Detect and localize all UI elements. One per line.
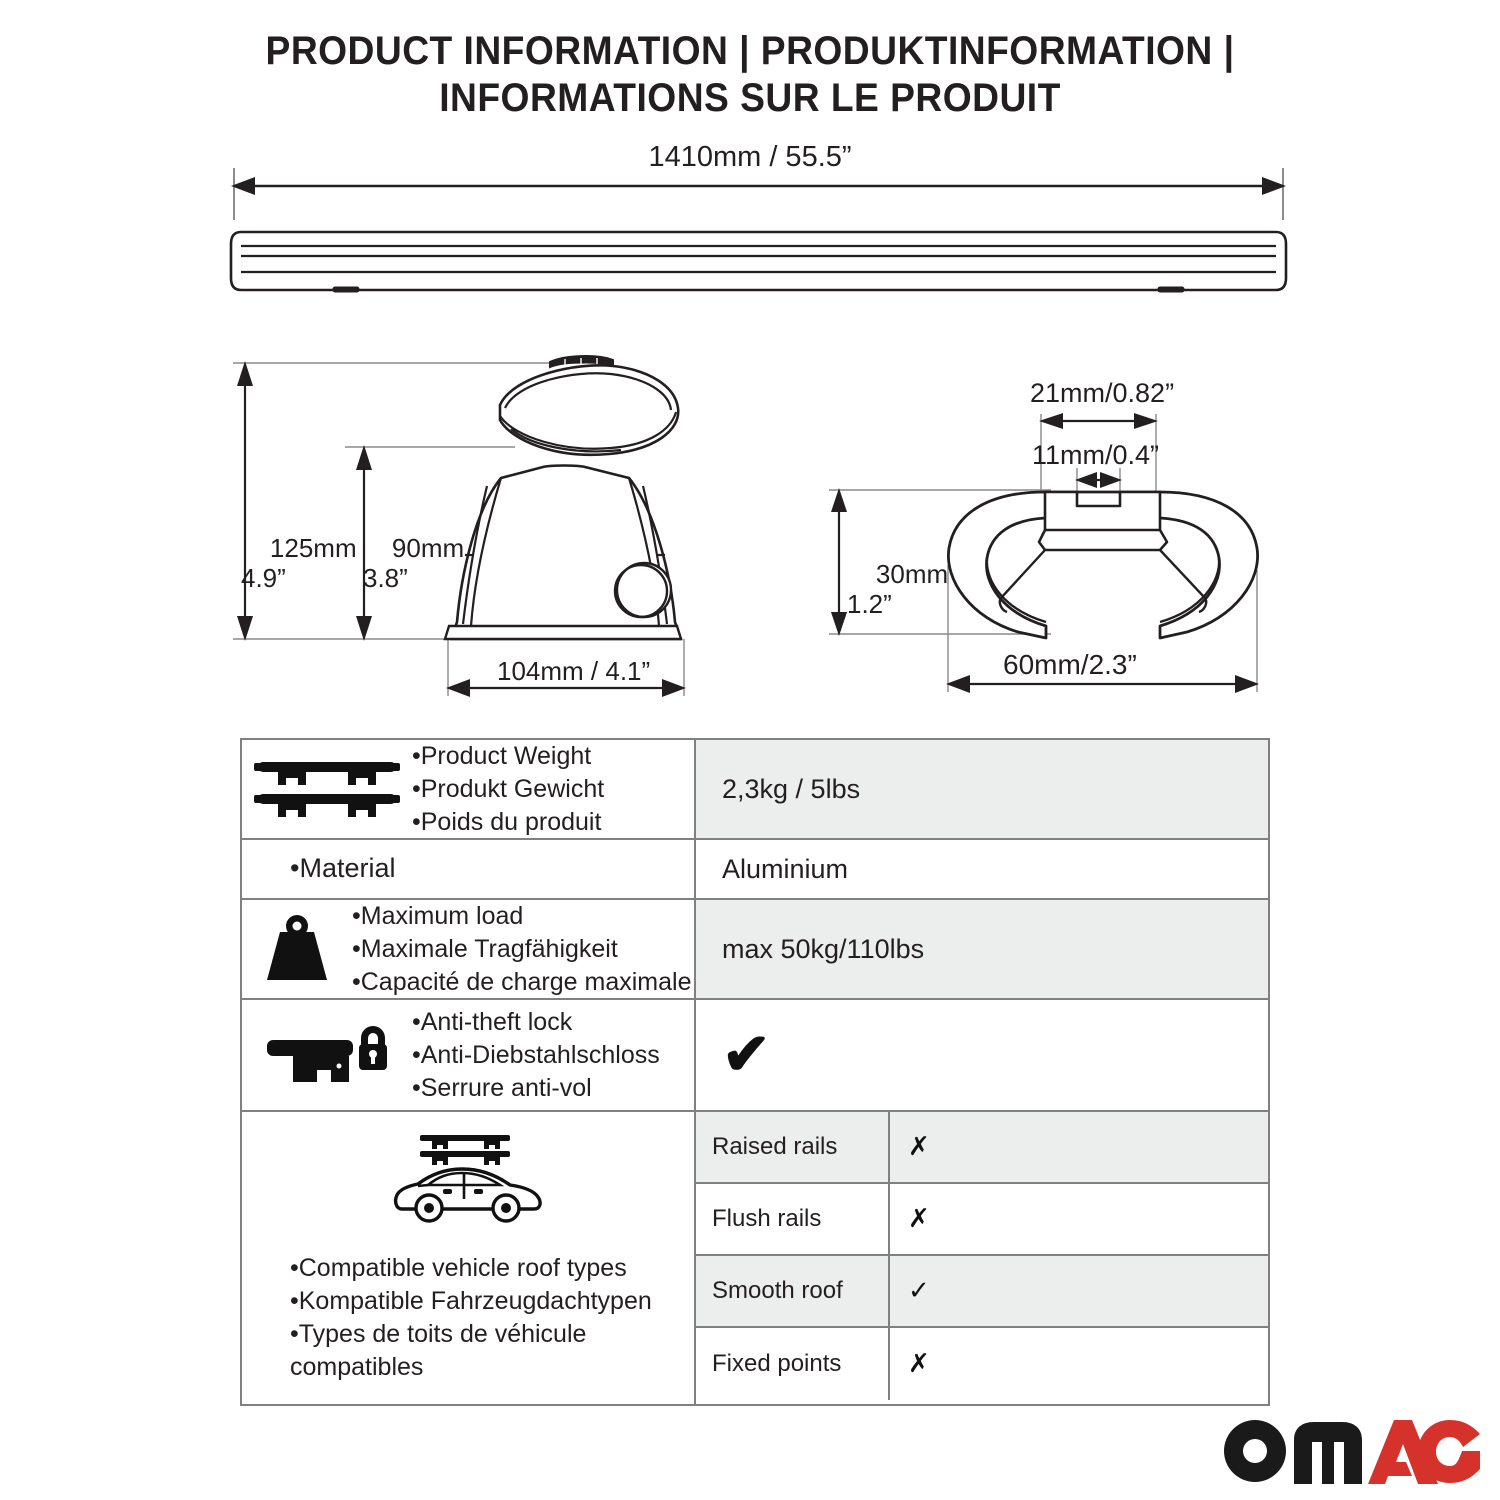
row-value-anti-theft-lock: ✔ xyxy=(696,1000,1268,1110)
table-row-product-weight: •Product Weight •Produkt Gewicht •Poids … xyxy=(242,740,1268,840)
specification-table: •Product Weight •Produkt Gewicht •Poids … xyxy=(240,738,1270,1406)
label-line: •Produkt Gewicht xyxy=(412,773,604,806)
weight-icon xyxy=(242,914,352,984)
table-row-anti-theft-lock: •Anti-theft lock •Anti-Diebstahlschloss … xyxy=(242,1000,1268,1112)
check-icon: ✔ xyxy=(722,1026,771,1084)
row-label-list: •Product Weight •Produkt Gewicht •Poids … xyxy=(412,740,608,839)
foot-total-height-label: 125mm 4.9” xyxy=(241,502,357,625)
compat-item-label: Flush rails xyxy=(696,1184,890,1254)
bar-top-view-drawing xyxy=(225,168,1295,313)
compat-list: Raised rails ✗ Flush rails ✗ Smooth roof… xyxy=(696,1112,1268,1404)
label-line: compatibles xyxy=(290,1351,652,1384)
compat-item-value: ✗ xyxy=(890,1349,1268,1379)
profile-channel-outer-label: 21mm/0.82” xyxy=(1030,378,1174,410)
product-information-sheet: PRODUCT INFORMATION | PRODUKTINFORMATION… xyxy=(0,0,1500,1500)
table-row-material: •Material Aluminium xyxy=(242,840,1268,900)
label-line: •Kompatible Fahrzeugdachtypen xyxy=(290,1285,652,1318)
label-line: •Anti-theft lock xyxy=(412,1006,660,1039)
compat-item-value: ✓ xyxy=(890,1276,1268,1306)
profile-width-label: 60mm/2.3” xyxy=(1003,648,1137,681)
compat-item-raised-rails: Raised rails ✗ xyxy=(696,1112,1268,1184)
car-with-rack-icon xyxy=(388,1129,548,1234)
row-value-product-weight: 2,3kg / 5lbs xyxy=(696,740,1268,838)
profile-height-label: 30mm 1.2” xyxy=(847,528,948,651)
compat-item-value: ✗ xyxy=(890,1132,1268,1162)
label-line: •Product Weight xyxy=(412,740,604,773)
crossbars-icon xyxy=(242,758,412,820)
label-line: •Types de toits de véhicule xyxy=(290,1318,652,1351)
label-line: •Capacité de charge maximale xyxy=(352,966,691,999)
row-label-cell: •Product Weight •Produkt Gewicht •Poids … xyxy=(242,740,696,838)
lock-icon xyxy=(242,1022,412,1088)
page-title: PRODUCT INFORMATION | PRODUKTINFORMATION… xyxy=(0,28,1500,122)
compat-item-smooth-roof: Smooth roof ✓ xyxy=(696,1256,1268,1328)
table-row-maximum-load: •Maximum load •Maximale Tragfähigkeit •C… xyxy=(242,900,1268,1000)
row-label-list: •Material xyxy=(412,851,416,887)
label-line: •Material xyxy=(290,851,412,887)
row-value-material: Aluminium xyxy=(696,840,1268,898)
compat-item-fixed-points: Fixed points ✗ xyxy=(696,1328,1268,1400)
row-label-cell: •Maximum load •Maximale Tragfähigkeit •C… xyxy=(242,900,696,998)
label-line: •Compatible vehicle roof types xyxy=(290,1252,652,1285)
row-label-list: •Anti-theft lock •Anti-Diebstahlschloss … xyxy=(412,1006,664,1105)
foot-width-label: 104mm / 4.1” xyxy=(497,656,650,687)
foot-inner-height-label: 90mm 3.8” xyxy=(363,502,464,625)
compat-item-label: Fixed points xyxy=(696,1328,890,1400)
row-label-cell: •Anti-theft lock •Anti-Diebstahlschloss … xyxy=(242,1000,696,1110)
title-line-1: PRODUCT INFORMATION | PRODUKTINFORMATION… xyxy=(53,28,1448,75)
label-line: •Serrure anti-vol xyxy=(412,1072,660,1105)
table-row-compatible-roof-types: •Compatible vehicle roof types •Kompatib… xyxy=(242,1112,1268,1404)
label-line: •Poids du produit xyxy=(412,806,604,839)
label-line: •Maximum load xyxy=(352,900,691,933)
row-value-maximum-load: max 50kg/110lbs xyxy=(696,900,1268,998)
compat-item-flush-rails: Flush rails ✗ xyxy=(696,1184,1268,1256)
compat-item-label: Smooth roof xyxy=(696,1256,890,1326)
omac-logo xyxy=(1222,1418,1484,1484)
label-line: •Maximale Tragfähigkeit xyxy=(352,933,691,966)
compat-label-list: •Compatible vehicle roof types •Kompatib… xyxy=(242,1252,656,1384)
compat-label-cell: •Compatible vehicle roof types •Kompatib… xyxy=(242,1112,696,1404)
label-line: •Anti-Diebstahlschloss xyxy=(412,1039,660,1072)
row-label-cell: •Material xyxy=(242,840,696,898)
row-label-list: •Maximum load •Maximale Tragfähigkeit •C… xyxy=(352,900,695,999)
title-line-2: INFORMATIONS SUR LE PRODUIT xyxy=(53,75,1448,122)
profile-channel-inner-label: 11mm/0.4” xyxy=(1032,440,1159,472)
compat-item-value: ✗ xyxy=(890,1204,1268,1234)
compat-item-label: Raised rails xyxy=(696,1112,890,1182)
